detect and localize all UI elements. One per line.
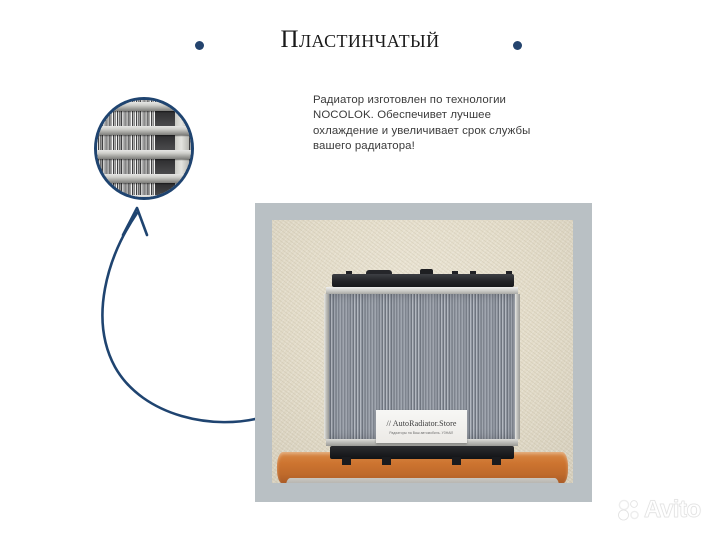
- store-card-subtitle: Радиаторы на Ваш автомобиль. УЗНАЙ: [390, 431, 454, 435]
- avito-watermark: Avito: [618, 498, 701, 522]
- radiator-fin-closeup-circle: [94, 97, 194, 200]
- avito-logo-icon: [618, 499, 640, 521]
- store-branding-card: // AutoRadiator.Store Радиаторы на Ваш а…: [376, 410, 467, 443]
- radiator-mount-foot: [382, 457, 391, 465]
- radiator-top-header: [326, 287, 518, 294]
- body-paragraph: Радиатор изготовлен по технологии NOCOLO…: [313, 93, 545, 155]
- radiator-mount-foot: [492, 457, 501, 465]
- fin-slot-shadow: [155, 159, 175, 174]
- product-photo: // AutoRadiator.Store Радиаторы на Ваш а…: [272, 220, 573, 483]
- decorative-dot-right-icon: [513, 41, 522, 50]
- product-photo-frame: // AutoRadiator.Store Радиаторы на Ваш а…: [255, 203, 592, 502]
- avito-watermark-text: Avito: [644, 498, 701, 522]
- radiator-bottom-tank: [330, 446, 514, 459]
- store-card-title: // AutoRadiator.Store: [386, 419, 456, 428]
- page-title: Пластинчатый: [210, 26, 510, 54]
- decorative-dot-left-icon: [195, 41, 204, 50]
- fin-tube-band: [94, 126, 194, 135]
- radiator-side-rail: [324, 294, 329, 439]
- radiator-mount-foot: [342, 457, 351, 465]
- table-base: [286, 478, 559, 483]
- fin-slot-shadow: [155, 111, 175, 126]
- fin-tube-band: [94, 174, 194, 183]
- fin-tube-band: [94, 150, 194, 159]
- radiator-mount-foot: [452, 457, 461, 465]
- radiator-side-rail: [515, 294, 520, 439]
- curved-arrow-icon: [95, 195, 280, 430]
- fin-tube-band: [94, 102, 194, 111]
- radiator-top-tank: [332, 274, 514, 287]
- fin-slot-shadow: [155, 135, 175, 150]
